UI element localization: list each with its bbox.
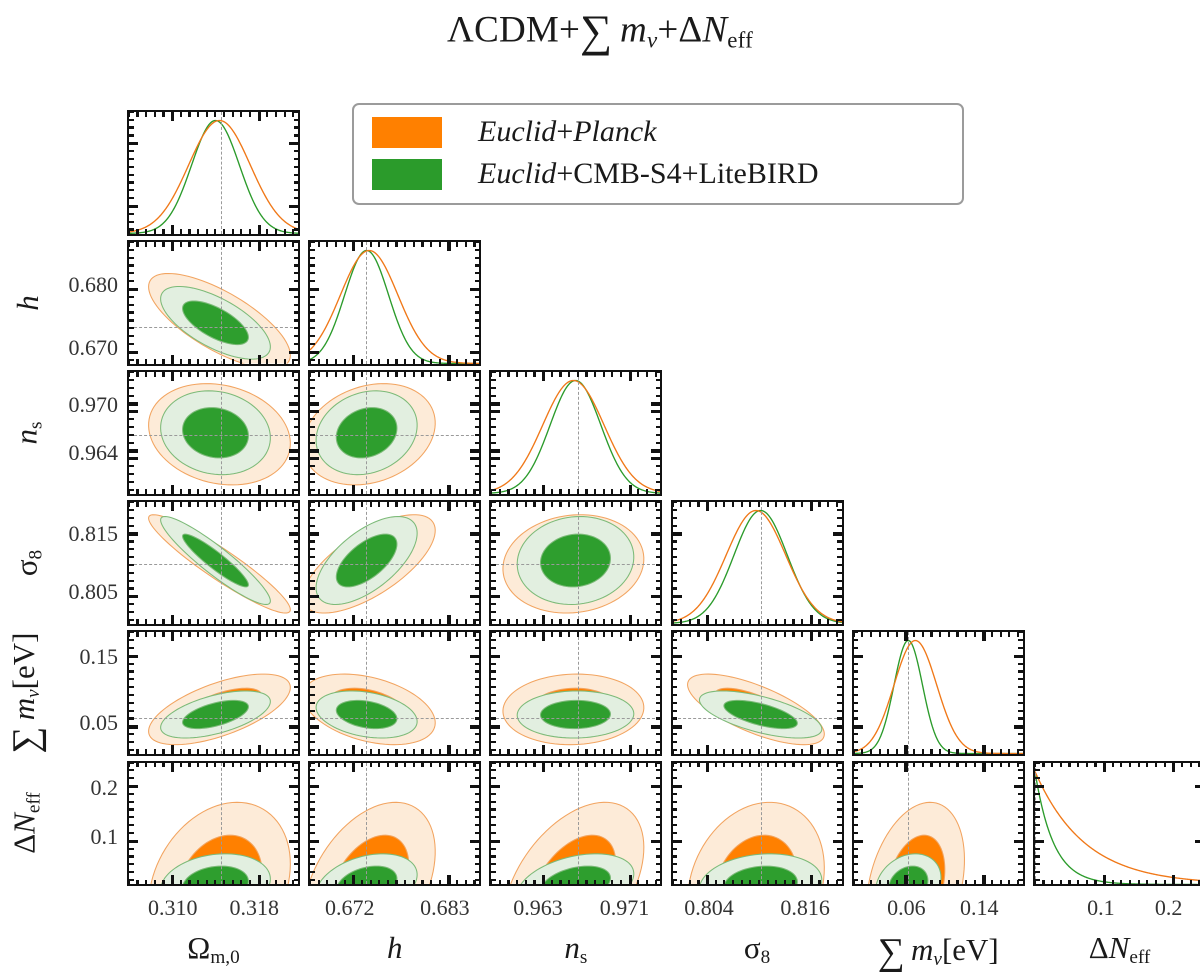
tick-mark xyxy=(232,359,234,364)
tick-mark xyxy=(656,647,661,649)
tick-mark xyxy=(1000,632,1002,637)
tick-mark xyxy=(421,749,423,754)
tick-mark xyxy=(585,632,587,637)
confidence-contours xyxy=(673,763,842,885)
tick-mark xyxy=(673,564,678,566)
tick-mark xyxy=(475,631,480,633)
tick-mark xyxy=(656,777,661,779)
tick-mark xyxy=(491,517,496,519)
tick-mark xyxy=(775,763,777,768)
tick-mark xyxy=(421,632,423,637)
tick-mark xyxy=(310,879,315,881)
tick-mark xyxy=(1035,840,1044,843)
panel-2d-omega_m-vs-n_s xyxy=(127,370,300,496)
tick-mark xyxy=(413,372,415,377)
tick-mark xyxy=(656,749,661,751)
tick-mark xyxy=(854,793,859,795)
tick-mark xyxy=(378,619,380,624)
tick-mark xyxy=(939,749,941,754)
tick-mark xyxy=(533,372,535,377)
panel-1d-omega_m xyxy=(127,110,300,236)
tick-mark xyxy=(585,763,587,768)
tick-mark xyxy=(275,242,277,247)
tick-mark xyxy=(136,489,138,494)
tick-mark xyxy=(318,749,320,754)
tick-mark xyxy=(861,763,863,768)
tick-mark xyxy=(310,556,315,558)
tick-mark xyxy=(162,372,164,377)
tick-mark xyxy=(741,632,743,637)
tick-mark xyxy=(585,749,587,754)
tick-mark xyxy=(475,670,480,672)
tick-mark xyxy=(1018,816,1023,818)
tick-mark xyxy=(475,473,480,475)
tick-mark xyxy=(421,880,423,885)
tick-mark xyxy=(854,749,859,751)
tick-mark xyxy=(465,359,467,364)
panel-1d-n_s xyxy=(489,370,662,496)
tick-mark xyxy=(559,632,561,637)
tick-mark xyxy=(525,502,527,507)
tick-mark xyxy=(326,502,328,507)
tick-mark xyxy=(1060,880,1062,885)
tick-mark xyxy=(475,801,480,803)
tick-mark xyxy=(475,611,480,613)
tick-mark xyxy=(1014,725,1023,728)
tick-mark xyxy=(904,875,907,884)
tick-mark xyxy=(1094,880,1096,885)
tick-mark xyxy=(294,824,299,826)
tick-mark xyxy=(475,249,480,251)
x-axis-title-sum_m_nu: ∑ mν[eV] xyxy=(878,930,999,974)
tick-mark xyxy=(154,763,156,768)
tick-mark xyxy=(387,763,389,768)
tick-mark xyxy=(294,832,299,834)
tick-mark xyxy=(577,502,579,507)
tick-mark xyxy=(689,632,691,637)
tick-mark xyxy=(310,532,319,535)
tick-mark xyxy=(673,863,678,865)
tick-mark xyxy=(154,372,156,377)
tick-mark xyxy=(833,840,842,843)
tick-mark xyxy=(470,402,479,405)
tick-mark xyxy=(275,489,277,494)
tick-mark xyxy=(507,749,509,754)
tick-mark xyxy=(1008,763,1010,768)
tick-mark xyxy=(491,816,496,818)
tick-mark xyxy=(491,509,496,511)
tick-mark xyxy=(491,426,496,428)
x-tick-label: 0.683 xyxy=(420,895,470,921)
tick-mark xyxy=(136,632,138,637)
tick-mark xyxy=(491,678,496,680)
tick-mark xyxy=(1000,763,1002,768)
tick-mark xyxy=(913,749,915,754)
tick-mark xyxy=(784,880,786,885)
tick-mark xyxy=(551,619,553,624)
tick-mark xyxy=(491,655,500,658)
tick-mark xyxy=(310,465,315,467)
tick-mark xyxy=(525,489,527,494)
tick-mark xyxy=(837,761,842,763)
tick-mark xyxy=(1018,631,1023,633)
tick-mark xyxy=(171,225,174,234)
tick-mark xyxy=(266,489,268,494)
tick-mark xyxy=(913,632,915,637)
tick-mark xyxy=(223,112,225,117)
tick-mark xyxy=(827,619,829,624)
tick-mark xyxy=(395,242,397,247)
tick-mark xyxy=(294,280,299,282)
tick-mark xyxy=(887,763,889,768)
tick-mark xyxy=(266,632,268,637)
tick-mark xyxy=(294,371,299,373)
tick-mark xyxy=(456,632,458,637)
tick-mark xyxy=(706,632,709,641)
tick-mark xyxy=(491,379,496,381)
tick-mark xyxy=(439,763,441,768)
tick-mark xyxy=(656,473,661,475)
tick-mark xyxy=(491,481,496,483)
tick-mark xyxy=(1035,801,1040,803)
tick-mark xyxy=(310,741,315,743)
tick-mark xyxy=(861,749,863,754)
tick-mark xyxy=(715,749,717,754)
tick-mark xyxy=(129,785,138,788)
tick-mark xyxy=(1077,880,1079,885)
tick-mark xyxy=(507,632,509,637)
tick-mark xyxy=(854,816,859,818)
tick-mark xyxy=(129,241,134,243)
confidence-contours xyxy=(310,632,479,754)
tick-mark xyxy=(837,832,842,834)
tick-mark xyxy=(620,619,622,624)
tick-mark xyxy=(223,372,225,377)
tick-mark xyxy=(706,763,709,772)
tick-mark xyxy=(837,639,842,641)
tick-mark xyxy=(784,749,786,754)
tick-mark xyxy=(758,619,760,624)
tick-mark xyxy=(294,647,299,649)
tick-mark xyxy=(129,769,134,771)
tick-mark xyxy=(837,741,842,743)
tick-mark xyxy=(310,686,315,688)
tick-mark xyxy=(568,502,570,507)
tick-mark xyxy=(656,761,661,763)
tick-mark xyxy=(294,663,299,665)
tick-mark xyxy=(129,733,134,735)
tick-mark xyxy=(180,229,182,234)
tick-mark xyxy=(275,112,277,117)
tick-mark xyxy=(145,372,147,377)
contour-region xyxy=(541,701,611,729)
tick-mark xyxy=(491,580,496,582)
tick-mark xyxy=(344,372,346,377)
posterior-curves xyxy=(1035,763,1200,885)
tick-mark xyxy=(475,686,480,688)
tick-mark xyxy=(129,111,134,113)
tick-mark xyxy=(491,395,496,397)
tick-mark xyxy=(656,501,661,503)
tick-mark xyxy=(475,311,480,313)
tick-mark xyxy=(310,710,315,712)
tick-mark xyxy=(758,880,760,885)
tick-mark xyxy=(465,880,467,885)
tick-mark xyxy=(129,296,134,298)
tick-mark xyxy=(1155,763,1157,768)
tick-mark xyxy=(656,694,661,696)
tick-mark xyxy=(475,548,480,550)
tick-mark xyxy=(559,619,561,624)
tick-mark xyxy=(629,875,632,884)
tick-mark xyxy=(188,880,190,885)
tick-mark xyxy=(854,655,863,658)
tick-mark xyxy=(439,489,441,494)
tick-mark xyxy=(310,725,319,728)
tick-mark xyxy=(129,725,138,728)
tick-mark xyxy=(475,879,480,881)
x-tick-label: 0.2 xyxy=(1155,895,1183,921)
tick-mark xyxy=(516,502,518,507)
tick-mark xyxy=(542,615,545,624)
tick-mark xyxy=(646,502,648,507)
tick-mark xyxy=(310,517,315,519)
tick-mark xyxy=(470,785,479,788)
tick-mark xyxy=(651,410,660,413)
tick-mark xyxy=(129,863,134,865)
tick-mark xyxy=(656,548,661,550)
tick-mark xyxy=(413,763,415,768)
tick-mark xyxy=(310,587,315,589)
x-tick-label: 0.816 xyxy=(780,895,830,921)
tick-mark xyxy=(129,228,134,230)
tick-mark xyxy=(344,489,346,494)
tick-mark xyxy=(129,631,134,633)
tick-mark xyxy=(249,619,251,624)
tick-mark xyxy=(326,489,328,494)
tick-mark xyxy=(577,632,579,637)
tick-mark xyxy=(129,556,134,558)
tick-mark xyxy=(145,763,147,768)
tick-mark xyxy=(206,489,208,494)
tick-mark xyxy=(656,442,661,444)
tick-mark xyxy=(162,112,164,117)
panel-1d-sum_m_nu xyxy=(852,630,1025,756)
tick-mark xyxy=(475,379,480,381)
tick-mark xyxy=(294,619,299,621)
tick-mark xyxy=(542,485,545,494)
tick-mark xyxy=(223,632,225,637)
tick-mark xyxy=(232,880,234,885)
tick-mark xyxy=(837,501,842,503)
tick-mark xyxy=(223,880,225,885)
tick-mark xyxy=(611,749,613,754)
confidence-contours xyxy=(129,242,298,364)
tick-mark xyxy=(294,119,299,121)
tick-mark xyxy=(656,580,661,582)
tick-mark xyxy=(294,769,299,771)
tick-mark xyxy=(129,481,134,483)
tick-mark xyxy=(421,359,423,364)
tick-mark xyxy=(673,733,678,735)
tick-mark xyxy=(767,763,769,768)
tick-mark xyxy=(310,442,315,444)
tick-mark xyxy=(475,710,480,712)
tick-mark xyxy=(344,502,346,507)
tick-mark xyxy=(837,678,842,680)
tick-mark xyxy=(294,241,299,243)
tick-mark xyxy=(129,647,134,649)
tick-mark xyxy=(439,502,441,507)
tick-mark xyxy=(577,489,579,494)
tick-mark xyxy=(129,189,134,191)
tick-mark xyxy=(275,749,277,754)
tick-mark xyxy=(1018,801,1023,803)
tick-mark xyxy=(499,502,501,507)
tick-mark xyxy=(154,749,156,754)
tick-mark xyxy=(223,749,225,754)
tick-mark xyxy=(145,880,147,885)
tick-mark xyxy=(559,489,561,494)
tick-mark xyxy=(749,619,751,624)
tick-mark xyxy=(294,343,299,345)
tick-mark xyxy=(284,242,286,247)
tick-mark xyxy=(413,632,415,637)
tick-mark xyxy=(689,619,691,624)
tick-mark xyxy=(180,359,182,364)
tick-mark xyxy=(206,112,208,117)
tick-mark xyxy=(887,749,889,754)
tick-mark xyxy=(559,763,561,768)
tick-mark xyxy=(430,242,432,247)
tick-mark xyxy=(611,489,613,494)
tick-mark xyxy=(129,134,134,136)
tick-mark xyxy=(162,749,164,754)
tick-mark xyxy=(982,745,985,754)
tick-mark xyxy=(188,502,190,507)
tick-mark xyxy=(378,359,380,364)
tick-mark xyxy=(258,485,261,494)
tick-mark xyxy=(136,229,138,234)
tick-mark xyxy=(491,702,496,704)
tick-mark xyxy=(1035,793,1040,795)
tick-mark xyxy=(129,205,138,208)
tick-mark xyxy=(516,880,518,885)
tick-mark xyxy=(129,639,134,641)
tick-mark xyxy=(656,379,661,381)
tick-mark xyxy=(294,879,299,881)
tick-mark xyxy=(310,769,315,771)
y-tick-label: 0.670 xyxy=(69,335,119,361)
tick-mark xyxy=(611,632,613,637)
tick-mark xyxy=(310,264,315,266)
tick-mark xyxy=(310,335,315,337)
tick-mark xyxy=(767,502,769,507)
tick-mark xyxy=(491,603,496,605)
tick-mark xyxy=(188,489,190,494)
tick-mark xyxy=(767,749,769,754)
tick-mark xyxy=(620,880,622,885)
tick-mark xyxy=(447,502,450,511)
tick-mark xyxy=(837,548,842,550)
tick-mark xyxy=(559,749,561,754)
tick-mark xyxy=(1146,763,1148,768)
tick-mark xyxy=(656,395,661,397)
tick-mark xyxy=(507,763,509,768)
tick-mark xyxy=(310,694,315,696)
tick-mark xyxy=(465,372,467,377)
tick-mark xyxy=(129,158,134,160)
tick-mark xyxy=(171,242,174,251)
tick-mark xyxy=(475,319,480,321)
tick-mark xyxy=(413,502,415,507)
tick-mark xyxy=(404,242,406,247)
tick-mark xyxy=(792,502,794,507)
tick-mark xyxy=(491,611,496,613)
tick-mark xyxy=(656,702,661,704)
tick-mark xyxy=(603,749,605,754)
tick-mark xyxy=(673,556,678,558)
tick-mark xyxy=(1018,710,1023,712)
tick-mark xyxy=(370,632,372,637)
tick-mark xyxy=(294,808,299,810)
y-tick-label: 0.680 xyxy=(69,272,119,298)
tick-mark xyxy=(310,619,315,621)
tick-mark xyxy=(129,197,134,199)
tick-mark xyxy=(516,372,518,377)
tick-mark xyxy=(361,763,363,768)
tick-mark xyxy=(240,372,242,377)
tick-mark xyxy=(232,502,234,507)
tick-mark xyxy=(465,242,467,247)
tick-mark xyxy=(352,763,355,772)
tick-mark xyxy=(475,694,480,696)
tick-mark xyxy=(629,763,632,772)
panel-2d-h-vs-sigma_8 xyxy=(308,500,481,626)
tick-mark xyxy=(1103,875,1106,884)
tick-mark xyxy=(370,749,372,754)
tick-mark xyxy=(129,879,134,881)
tick-mark xyxy=(214,489,216,494)
tick-mark xyxy=(310,272,315,274)
page-title: ΛCDM+∑ mν+ΔNeff xyxy=(0,6,1200,58)
tick-mark xyxy=(154,242,156,247)
tick-mark xyxy=(284,502,286,507)
tick-mark xyxy=(475,335,480,337)
tick-mark xyxy=(611,880,613,885)
tick-mark xyxy=(1172,763,1175,772)
tick-mark xyxy=(129,741,134,743)
tick-mark xyxy=(266,229,268,234)
tick-mark xyxy=(197,619,199,624)
tick-mark xyxy=(447,485,450,494)
tick-mark xyxy=(214,880,216,885)
tick-mark xyxy=(456,619,458,624)
tick-mark xyxy=(559,502,561,507)
tick-mark xyxy=(656,832,661,834)
tick-mark xyxy=(551,880,553,885)
tick-mark xyxy=(837,517,842,519)
tick-mark xyxy=(656,848,661,850)
tick-mark xyxy=(129,351,138,354)
tick-mark xyxy=(656,426,661,428)
y-tick-label: 0.970 xyxy=(69,392,119,418)
tick-mark xyxy=(310,395,315,397)
tick-mark xyxy=(294,702,299,704)
tick-mark xyxy=(1018,871,1023,873)
tick-mark xyxy=(294,525,299,527)
tick-mark xyxy=(1195,785,1200,788)
